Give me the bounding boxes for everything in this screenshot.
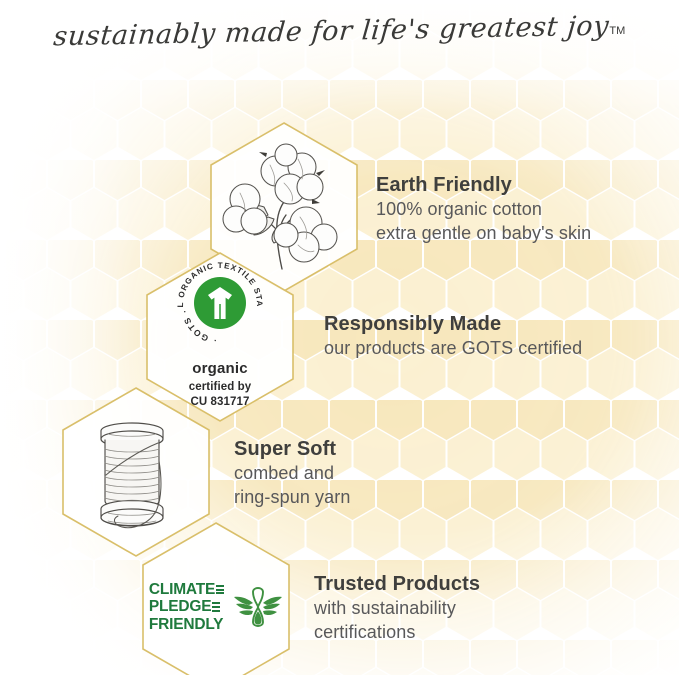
feature-line: our products are GOTS certified — [324, 337, 582, 361]
cpf-line-1: CLIMATE — [149, 581, 215, 598]
hexagon-card-climate-pledge: CLIMATE PLEDGE FRIENDLY — [138, 520, 294, 675]
feature-text-trusted-products: Trusted Products with sustainability cer… — [314, 572, 480, 645]
climate-pledge-logo-wrap: CLIMATE PLEDGE FRIENDLY — [138, 520, 294, 675]
sustainability-infographic: sustainably made for life's greatest joy… — [0, 0, 679, 675]
climate-pledge-wordmark: CLIMATE PLEDGE FRIENDLY — [149, 581, 224, 633]
winged-hourglass-icon — [233, 586, 283, 628]
feature-line: combed and — [234, 462, 350, 486]
cpf-line-3: FRIENDLY — [149, 616, 223, 633]
feature-text-super-soft: Super Soft combed and ring-spun yarn — [234, 437, 350, 510]
headline-text: sustainably made for life's greatest joy — [52, 11, 610, 53]
cpf-bars-icon — [212, 602, 220, 611]
feature-line: extra gentle on baby's skin — [376, 222, 591, 246]
feature-title: Super Soft — [234, 437, 350, 462]
feature-line: certifications — [314, 621, 480, 645]
feature-trusted-products: CLIMATE PLEDGE FRIENDLY — [138, 520, 480, 675]
feature-text-responsibly-made: Responsibly Made our products are GOTS c… — [324, 312, 582, 361]
feature-title: Earth Friendly — [376, 173, 591, 198]
cpf-bars-icon — [216, 585, 224, 594]
page-headline: sustainably made for life's greatest joy… — [0, 16, 679, 47]
thread-spool-sketch-icon — [76, 409, 196, 535]
feature-line: 100% organic cotton — [376, 198, 591, 222]
gots-caption-organic: organic — [192, 360, 248, 377]
feature-line: with sustainability — [314, 597, 480, 621]
feature-title: Responsibly Made — [324, 312, 582, 337]
feature-text-earth-friendly: Earth Friendly 100% organic cotton extra… — [376, 173, 591, 246]
feature-line: ring-spun yarn — [234, 486, 350, 510]
cpf-line-2: PLEDGE — [149, 598, 212, 615]
trademark-symbol: TM — [609, 25, 625, 37]
feature-title: Trusted Products — [314, 572, 480, 597]
gots-organic-certification-icon: GLOBAL ORGANIC TEXTILE STANDARD · GOTS · — [172, 257, 268, 353]
